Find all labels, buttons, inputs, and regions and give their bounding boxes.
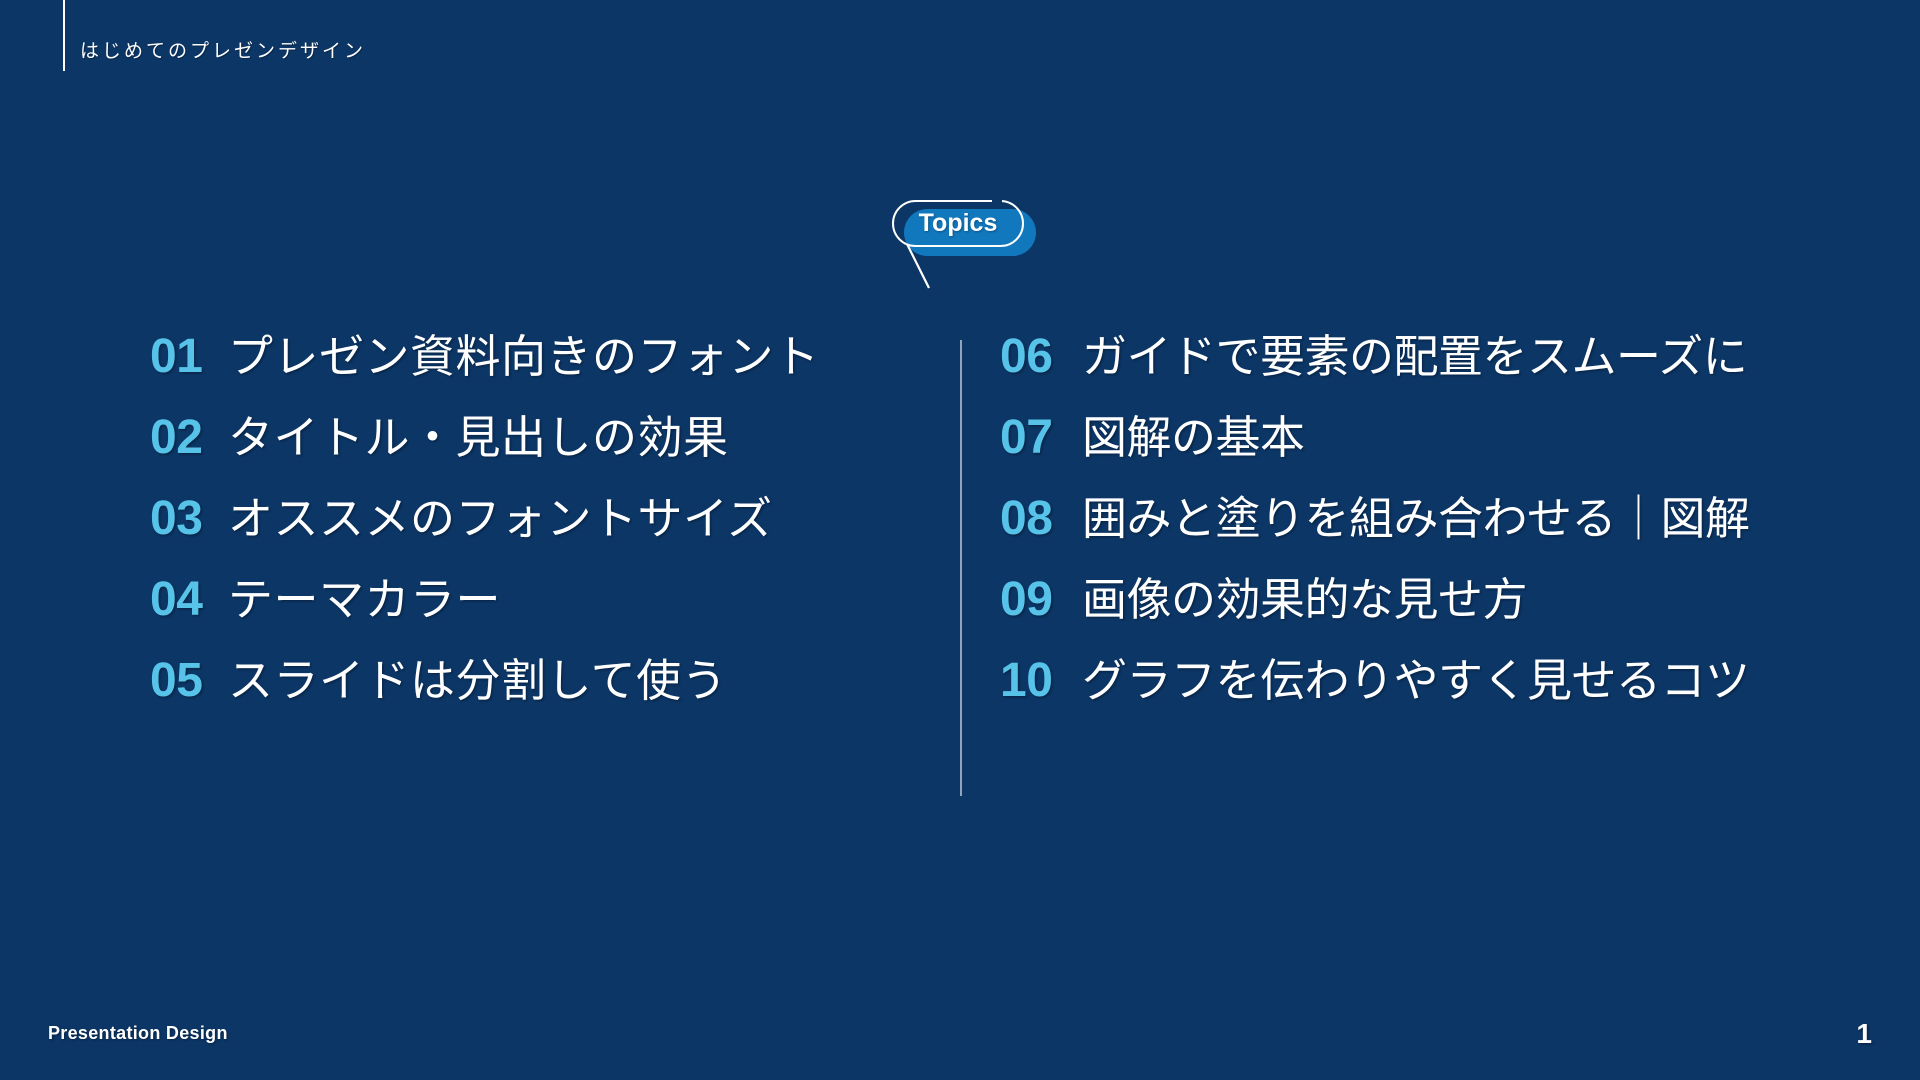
topic-label: 画像の効果的な見せ方: [1082, 563, 1527, 628]
topic-number: 05: [150, 653, 228, 708]
list-item[interactable]: 09 画像の効果的な見せ方: [1000, 563, 1820, 644]
header-title: はじめてのプレゼンデザイン: [80, 36, 366, 63]
topics-badge-label: Topics: [892, 200, 1024, 247]
list-item[interactable]: 10 グラフを伝わりやすく見せるコツ: [1000, 644, 1820, 725]
list-item[interactable]: 04 テーマカラー: [150, 563, 930, 644]
slide-canvas: はじめてのプレゼンデザイン Topics 01 プレゼン資料向きのフォント 02…: [0, 0, 1920, 1080]
speech-bubble-tail-icon: [904, 243, 934, 291]
topics-column-left: 01 プレゼン資料向きのフォント 02 タイトル・見出しの効果 03 オススメの…: [150, 320, 930, 725]
topic-label: 図解の基本: [1082, 401, 1305, 466]
topic-label: グラフを伝わりやすく見せるコツ: [1082, 644, 1750, 709]
list-item[interactable]: 03 オススメのフォントサイズ: [150, 482, 930, 563]
topic-number: 07: [1000, 410, 1082, 465]
topic-label: タイトル・見出しの効果: [228, 401, 729, 466]
topic-number: 04: [150, 572, 228, 627]
list-item[interactable]: 02 タイトル・見出しの効果: [150, 401, 930, 482]
topic-number: 03: [150, 491, 228, 546]
page-number: 1: [1856, 1018, 1872, 1050]
list-item[interactable]: 08 囲みと塗りを組み合わせる｜図解: [1000, 482, 1820, 563]
topic-number: 08: [1000, 491, 1082, 546]
column-divider: [960, 340, 962, 796]
list-item[interactable]: 01 プレゼン資料向きのフォント: [150, 320, 930, 401]
list-item[interactable]: 05 スライドは分割して使う: [150, 644, 930, 725]
topic-number: 09: [1000, 572, 1082, 627]
topic-label: オススメのフォントサイズ: [228, 482, 773, 547]
topic-label: テーマカラー: [228, 563, 501, 628]
topic-label: プレゼン資料向きのフォント: [228, 320, 820, 385]
topics-column-right: 06 ガイドで要素の配置をスムーズに 07 図解の基本 08 囲みと塗りを組み合…: [1000, 320, 1820, 725]
list-item[interactable]: 06 ガイドで要素の配置をスムーズに: [1000, 320, 1820, 401]
topic-number: 10: [1000, 653, 1082, 708]
topic-number: 02: [150, 410, 228, 465]
footer-brand: Presentation Design: [48, 1023, 228, 1044]
topic-label: 囲みと塗りを組み合わせる｜図解: [1082, 482, 1750, 547]
topic-label: スライドは分割して使う: [228, 644, 727, 709]
topic-number: 01: [150, 329, 228, 384]
header-accent-rule: [63, 0, 65, 71]
topics-badge: Topics: [888, 198, 1048, 290]
list-item[interactable]: 07 図解の基本: [1000, 401, 1820, 482]
topic-label: ガイドで要素の配置をスムーズに: [1082, 320, 1747, 385]
topic-number: 06: [1000, 329, 1082, 384]
slide-header: はじめてのプレゼンデザイン: [0, 0, 1920, 110]
